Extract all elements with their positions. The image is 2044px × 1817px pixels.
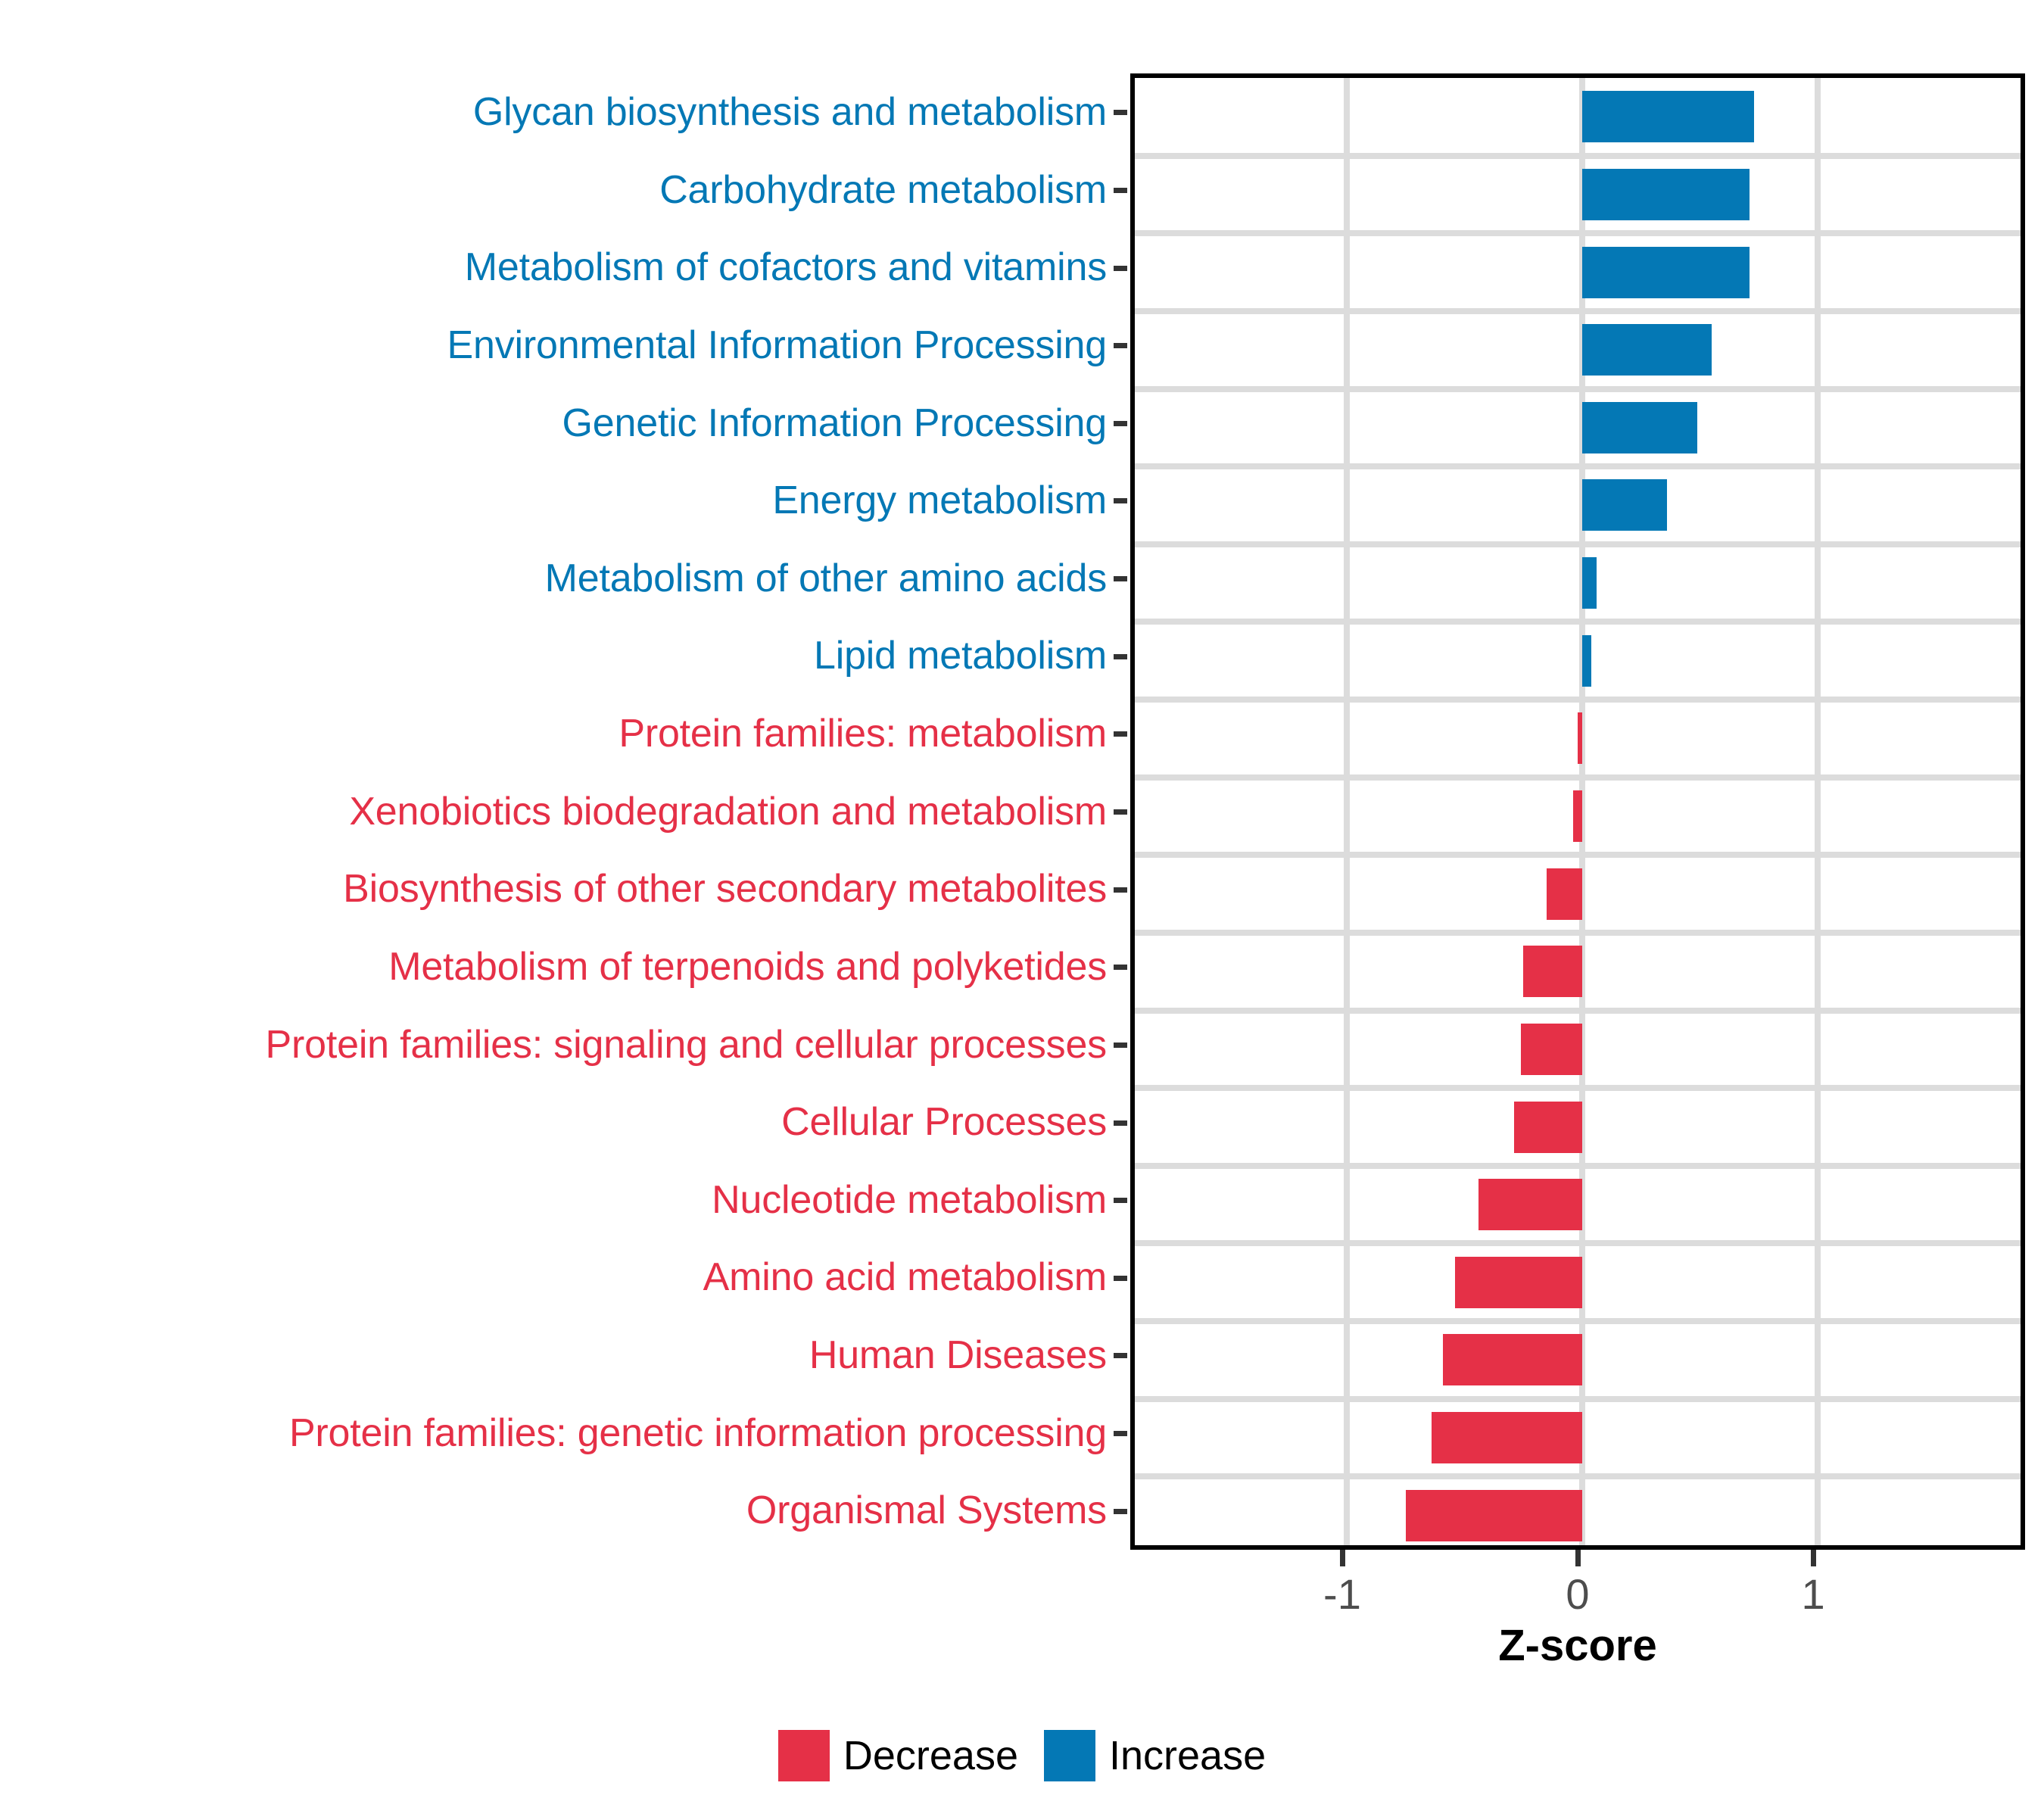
category-label-row: Carbohydrate metabolism xyxy=(0,161,1113,219)
gridline-horizontal xyxy=(1135,230,2021,236)
category-label: Xenobiotics biodegradation and metabolis… xyxy=(349,791,1107,833)
category-tick xyxy=(1114,887,1127,893)
category-label: Protein families: metabolism xyxy=(618,713,1107,755)
category-label-row: Lipid metabolism xyxy=(0,628,1113,685)
category-label-row: Metabolism of terpenoids and polyketides xyxy=(0,938,1113,996)
category-label-row: Human Diseases xyxy=(0,1326,1113,1384)
bar xyxy=(1582,557,1597,609)
gridline-vertical xyxy=(1815,78,1821,1545)
legend-label: Decrease xyxy=(843,1732,1018,1779)
bar xyxy=(1432,1412,1582,1463)
x-axis-tick-label: -1 xyxy=(1323,1569,1361,1619)
plot-area xyxy=(1135,78,2021,1545)
category-label-row: Amino acid metabolism xyxy=(0,1249,1113,1307)
bar xyxy=(1521,1024,1582,1075)
gridline-horizontal xyxy=(1135,697,2021,703)
category-label-row: Protein families: genetic information pr… xyxy=(0,1404,1113,1462)
category-label: Energy metabolism xyxy=(772,480,1107,522)
category-label: Carbohydrate metabolism xyxy=(659,170,1107,211)
bar xyxy=(1406,1490,1582,1541)
category-label: Nucleotide metabolism xyxy=(712,1180,1107,1221)
category-tick xyxy=(1114,498,1127,503)
category-label: Metabolism of terpenoids and polyketides xyxy=(388,946,1107,988)
gridline-horizontal xyxy=(1135,619,2021,625)
category-label-row: Genetic Information Processing xyxy=(0,394,1113,452)
bar xyxy=(1455,1257,1582,1308)
category-tick xyxy=(1114,576,1127,581)
legend-item[interactable]: Increase xyxy=(1044,1730,1266,1781)
category-tick xyxy=(1114,1120,1127,1126)
legend-label: Increase xyxy=(1109,1732,1266,1779)
category-label: Protein families: signaling and cellular… xyxy=(266,1024,1107,1066)
category-label-row: Energy metabolism xyxy=(0,472,1113,529)
category-label: Metabolism of cofactors and vitamins xyxy=(465,247,1107,288)
category-label: Lipid metabolism xyxy=(814,635,1107,677)
gridline-horizontal xyxy=(1135,1240,2021,1246)
category-label-row: Nucleotide metabolism xyxy=(0,1171,1113,1229)
category-label-row: Cellular Processes xyxy=(0,1094,1113,1152)
category-label-row: Metabolism of other amino acids xyxy=(0,550,1113,607)
category-label-row: Organismal Systems xyxy=(0,1482,1113,1540)
bar xyxy=(1582,402,1697,453)
category-label-row: Glycan biosynthesis and metabolism xyxy=(0,83,1113,141)
category-axis-labels: Glycan biosynthesis and metabolismCarboh… xyxy=(0,73,1113,1550)
gridline-horizontal xyxy=(1135,386,2021,392)
category-label-row: Biosynthesis of other secondary metaboli… xyxy=(0,861,1113,918)
x-axis-title: Z-score xyxy=(1130,1620,2025,1671)
category-tick xyxy=(1114,1276,1127,1281)
x-axis-tick xyxy=(1811,1550,1816,1566)
category-label: Metabolism of other amino acids xyxy=(545,558,1107,600)
category-tick xyxy=(1114,1353,1127,1358)
gridline-horizontal xyxy=(1135,774,2021,781)
bar xyxy=(1443,1334,1582,1385)
category-tick xyxy=(1114,188,1127,193)
category-label: Glycan biosynthesis and metabolism xyxy=(473,92,1107,133)
category-tick xyxy=(1114,1198,1127,1203)
category-label-row: Protein families: metabolism xyxy=(0,705,1113,762)
x-axis-tick xyxy=(1575,1550,1581,1566)
category-tick xyxy=(1114,110,1127,115)
category-tick xyxy=(1114,421,1127,426)
category-label-row: Environmental Information Processing xyxy=(0,316,1113,374)
category-label: Organismal Systems xyxy=(746,1490,1107,1532)
legend-swatch xyxy=(1044,1730,1095,1781)
category-tick xyxy=(1114,654,1127,659)
category-tick xyxy=(1114,965,1127,970)
gridline-horizontal xyxy=(1135,1396,2021,1402)
bar xyxy=(1582,635,1591,687)
bar xyxy=(1582,247,1750,298)
category-tick xyxy=(1114,809,1127,815)
bar xyxy=(1514,1102,1582,1153)
x-axis-tick-label: 1 xyxy=(1801,1569,1824,1619)
category-label: Human Diseases xyxy=(809,1335,1107,1376)
category-label: Biosynthesis of other secondary metaboli… xyxy=(343,868,1107,910)
bar xyxy=(1523,946,1582,997)
gridline-vertical xyxy=(1344,78,1350,1545)
gridline-horizontal xyxy=(1135,1085,2021,1091)
plot-panel xyxy=(1130,73,2025,1550)
category-label: Amino acid metabolism xyxy=(703,1257,1107,1298)
chart-legend: DecreaseIncrease xyxy=(0,1730,2044,1781)
category-tick xyxy=(1114,343,1127,348)
bar xyxy=(1573,790,1582,842)
category-tick xyxy=(1114,266,1127,271)
gridline-horizontal xyxy=(1135,1163,2021,1169)
category-label-row: Metabolism of cofactors and vitamins xyxy=(0,239,1113,297)
x-axis-tick xyxy=(1340,1550,1345,1566)
gridline-horizontal xyxy=(1135,153,2021,159)
gridline-horizontal xyxy=(1135,308,2021,314)
gridline-horizontal xyxy=(1135,463,2021,469)
bar xyxy=(1478,1179,1582,1230)
bar xyxy=(1582,479,1667,531)
bar xyxy=(1582,91,1754,142)
gridline-horizontal xyxy=(1135,852,2021,858)
bar xyxy=(1547,868,1582,920)
gridline-horizontal xyxy=(1135,1008,2021,1014)
gridline-horizontal xyxy=(1135,1318,2021,1324)
category-label-row: Xenobiotics biodegradation and metabolis… xyxy=(0,783,1113,840)
gridline-horizontal xyxy=(1135,541,2021,547)
bar xyxy=(1582,324,1712,376)
bar xyxy=(1582,169,1750,220)
bar-chart-figure: Glycan biosynthesis and metabolismCarboh… xyxy=(0,0,2044,1817)
legend-item[interactable]: Decrease xyxy=(778,1730,1018,1781)
category-tick xyxy=(1114,1431,1127,1436)
gridline-horizontal xyxy=(1135,1473,2021,1479)
category-tick xyxy=(1114,1509,1127,1514)
category-label: Cellular Processes xyxy=(781,1102,1107,1143)
category-tick xyxy=(1114,731,1127,737)
category-label-row: Protein families: signaling and cellular… xyxy=(0,1016,1113,1074)
category-label: Environmental Information Processing xyxy=(447,325,1107,366)
category-label: Protein families: genetic information pr… xyxy=(289,1413,1107,1454)
category-label: Genetic Information Processing xyxy=(562,403,1107,444)
legend-swatch xyxy=(778,1730,830,1781)
x-axis-tick-label: 0 xyxy=(1566,1569,1589,1619)
gridline-horizontal xyxy=(1135,930,2021,936)
bar xyxy=(1578,712,1582,764)
category-tick xyxy=(1114,1043,1127,1048)
